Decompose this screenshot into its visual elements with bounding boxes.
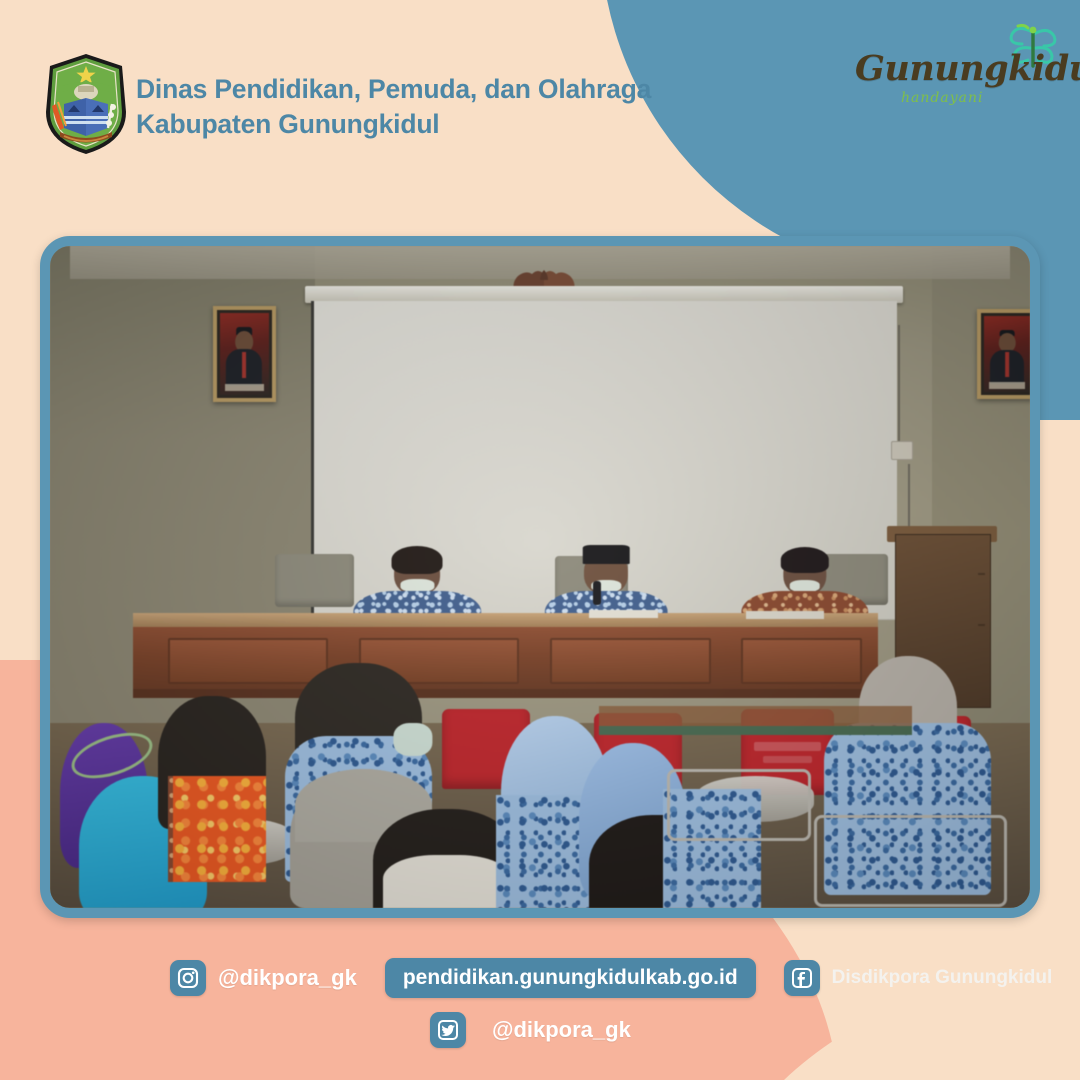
wall-cable bbox=[898, 325, 900, 444]
paper bbox=[746, 611, 824, 619]
gunungkidul-brand-logo: Gunungkidul handayani bbox=[847, 34, 1062, 114]
brand-wordmark: Gunungkidul bbox=[855, 48, 1080, 89]
footer-social-bar: @dikpora_gk pendidikan.gunungkidulkab.go… bbox=[0, 940, 1080, 1080]
vice-president-portrait bbox=[977, 309, 1030, 399]
paper bbox=[589, 610, 658, 618]
head-table-rim bbox=[133, 689, 878, 698]
microphone bbox=[593, 581, 602, 605]
gunungkidul-regency-emblem bbox=[42, 52, 130, 156]
panel-chair-left bbox=[275, 554, 353, 607]
wall-socket bbox=[891, 441, 913, 460]
twitter-icon[interactable] bbox=[430, 1012, 466, 1048]
photo-scene bbox=[50, 246, 1030, 908]
title-line-1: Dinas Pendidikan, Pemuda, dan Olahraga bbox=[136, 72, 651, 107]
website-url[interactable]: pendidikan.gunungkidulkab.go.id bbox=[385, 958, 756, 998]
face-mask bbox=[393, 723, 432, 756]
chair-frame bbox=[667, 769, 810, 841]
instagram-icon[interactable] bbox=[170, 960, 206, 996]
chair-frame bbox=[814, 815, 1006, 907]
wall-rail bbox=[599, 726, 913, 735]
event-photo bbox=[40, 236, 1040, 918]
page-title: Dinas Pendidikan, Pemuda, dan Olahraga K… bbox=[136, 72, 651, 142]
wall-ledge bbox=[599, 706, 913, 726]
footer-row-twitter: @dikpora_gk bbox=[430, 1012, 631, 1048]
poster-canvas: Dinas Pendidikan, Pemuda, dan Olahraga K… bbox=[0, 0, 1080, 1080]
table-panel bbox=[741, 638, 863, 684]
president-portrait bbox=[213, 306, 276, 402]
facebook-group[interactable]: Disdikpora Gunungkidul bbox=[784, 960, 1053, 996]
face-mask bbox=[383, 855, 510, 908]
footer-row-primary: @dikpora_gk pendidikan.gunungkidulkab.go… bbox=[170, 958, 1052, 998]
table-panel bbox=[550, 638, 711, 684]
audience-batik-orange-pattern bbox=[173, 776, 266, 882]
brand-tagline: handayani bbox=[901, 90, 983, 106]
header: Dinas Pendidikan, Pemuda, dan Olahraga K… bbox=[0, 0, 1080, 200]
instagram-handle[interactable]: @dikpora_gk bbox=[218, 965, 357, 991]
facebook-icon[interactable] bbox=[784, 960, 820, 996]
facebook-page[interactable]: Disdikpora Gunungkidul bbox=[832, 967, 1053, 989]
title-line-2: Kabupaten Gunungkidul bbox=[136, 107, 651, 142]
table-panel bbox=[168, 638, 329, 684]
twitter-handle[interactable]: @dikpora_gk bbox=[492, 1017, 631, 1043]
